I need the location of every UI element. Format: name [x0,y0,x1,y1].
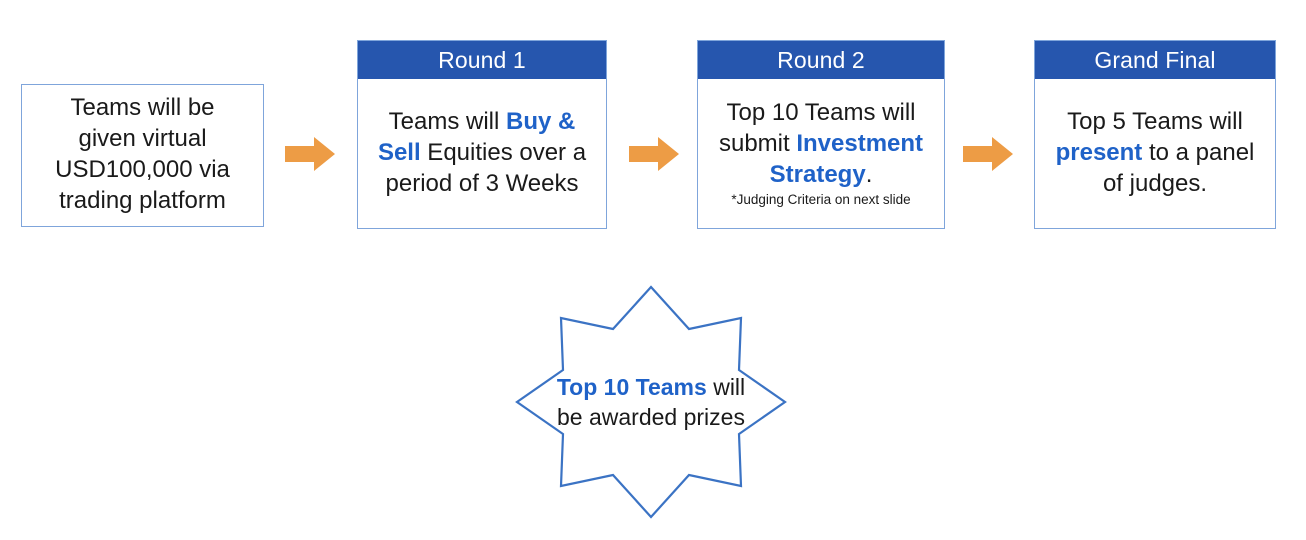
stage-header-round2: Round 2 [698,41,944,79]
round1-text-a: Teams will [389,108,506,135]
intro-line-3: USD100,000 via [55,156,230,183]
starburst-callout[interactable]: Top 10 Teams will be awarded prizes [513,285,789,519]
stage-box-intro[interactable]: Teams will be given virtual USD100,000 v… [21,84,264,227]
stage-header-grand-final: Grand Final [1035,41,1275,79]
stage-text-round2: Top 10 Teams will submit Investment Stra… [706,97,936,190]
flow-arrow-icon-2 [629,137,679,171]
stage-box-round1[interactable]: Round 1 Teams will Buy & Sell Equities o… [357,40,607,229]
stage-body-round1: Teams will Buy & Sell Equities over a pe… [358,79,606,228]
stage-body-grand-final: Top 5 Teams will present to a panel of j… [1035,79,1275,228]
grandfinal-text-a: Top 5 Teams will [1067,108,1243,135]
stage-box-grand-final[interactable]: Grand Final Top 5 Teams will present to … [1034,40,1276,229]
stage-header-round1: Round 1 [358,41,606,79]
stage-text-intro: Teams will be given virtual USD100,000 v… [55,92,230,216]
stage-body-round2: Top 10 Teams will submit Investment Stra… [698,79,944,228]
starburst-highlight-top10teams: Top 10 Teams [557,374,707,400]
flow-arrow-icon-3 [963,137,1013,171]
stage-text-round1: Teams will Buy & Sell Equities over a pe… [366,106,598,199]
intro-line-1: Teams will be [70,94,214,121]
stage-text-grand-final: Top 5 Teams will present to a panel of j… [1043,106,1267,199]
flow-arrow-icon-1 [285,137,335,171]
grandfinal-highlight-present: present [1056,139,1143,166]
starburst-text: Top 10 Teams will be awarded prizes [556,372,746,432]
round2-footnote: *Judging Criteria on next slide [731,191,910,208]
stage-box-round2[interactable]: Round 2 Top 10 Teams will submit Investm… [697,40,945,229]
intro-line-2: given virtual [78,125,206,152]
intro-line-4: trading platform [59,187,226,214]
stage-body-intro: Teams will be given virtual USD100,000 v… [22,85,263,226]
round2-text-c: . [866,161,873,188]
